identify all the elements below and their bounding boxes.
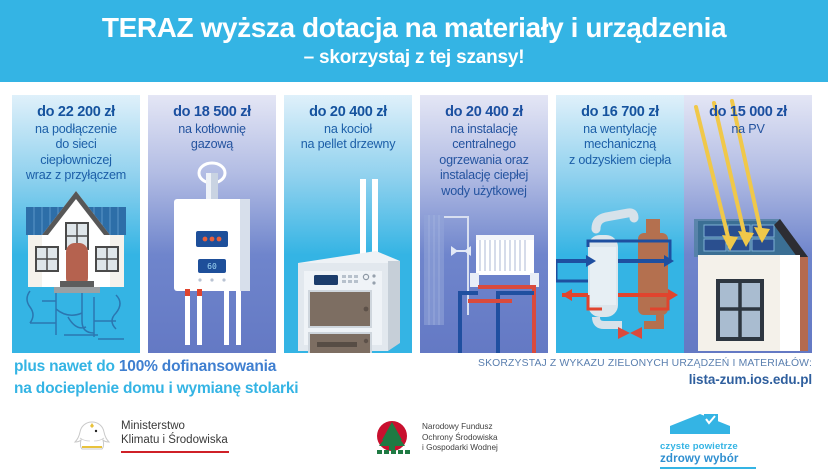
header-subtitle: – skorzystaj z tej szansy!: [304, 47, 525, 69]
nfosigw-line3: i Gospodarki Wodnej: [422, 443, 498, 454]
panel-5-description: na wentylację mechaniczną z odzyskiem ci…: [560, 122, 680, 168]
panel-6-description: na PV: [688, 122, 808, 137]
logo-nfosigw: Narodowy Fundusz Ochrony Środowiska i Go…: [372, 418, 498, 458]
panel-5-amount: do 16 700 zł: [560, 103, 680, 121]
panel-3-description: na kocioł na pellet drzewny: [288, 122, 408, 153]
logo-czyste-powietrze: czyste powietrze zdrowy wybór: [660, 414, 800, 469]
panel-3-caption: do 20 400 zł na kocioł na pellet drzewny: [284, 103, 412, 153]
subsidy-panels-row: do 22 200 zł na podłączenie do sieci cie…: [0, 95, 828, 353]
panel-central-heating: do 20 400 zł na instalację centralnego o…: [420, 95, 548, 353]
czyste-powietrze-line2: zdrowy wybór: [660, 452, 800, 465]
panel-1-description: na podłączenie do sieci ciepłowniczej wr…: [16, 122, 136, 183]
logo-ministry-of-climate: Ministerstwo Klimatu i Środowiska: [72, 416, 229, 456]
panel-3-amount: do 20 400 zł: [288, 103, 408, 121]
nfosigw-line1: Narodowy Fundusz: [422, 422, 498, 433]
svg-text:60: 60: [207, 262, 217, 271]
bottom-left-line1: plus nawet do 100% dofinansowania: [14, 356, 454, 378]
ministry-red-rule: [121, 451, 229, 454]
panel-2-caption: do 18 500 zł na kotłownię gazową: [148, 103, 276, 153]
logo-bar: Ministerstwo Klimatu i Środowiska Narodo…: [0, 406, 828, 466]
panel-ventilation: do 16 700 zł na wentylację mechaniczną z…: [556, 95, 684, 353]
panel-6-caption: do 15 000 zł na PV: [684, 103, 812, 137]
panel-4-amount: do 20 400 zł: [424, 103, 544, 121]
nfosigw-line2: Ochrony Środowiska: [422, 433, 498, 444]
bottom-left-note: plus nawet do 100% dofinansowania na doc…: [14, 356, 454, 401]
panel-gas-boiler: 60 do 18 500 zł na kotłownię gazową: [148, 95, 276, 353]
green-list-url[interactable]: lista-zum.ios.edu.pl: [478, 372, 812, 387]
bottom-right-note: SKORZYSTAJ Z WYKAZU ZIELONYCH URZĄDZEŃ I…: [478, 358, 812, 387]
house-roof-check-icon: [660, 414, 760, 436]
panel-1-amount: do 22 200 zł: [16, 103, 136, 121]
panel-district-heating: do 22 200 zł na podłączenie do sieci cie…: [12, 95, 140, 353]
panel-pellet-boiler: do 20 400 zł na kocioł na pellet drzewny: [284, 95, 412, 353]
panel-4-caption: do 20 400 zł na instalację centralnego o…: [420, 103, 548, 199]
panel-2-description: na kotłownię gazową: [152, 122, 272, 153]
panel-2-amount: do 18 500 zł: [152, 103, 272, 121]
green-list-note: SKORZYSTAJ Z WYKAZU ZIELONYCH URZĄDZEŃ I…: [478, 358, 812, 369]
ministry-line1: Ministerstwo: [121, 419, 229, 433]
bottom-left-highlight: 100% dofinansowania: [119, 358, 276, 375]
bottom-left-prefix: plus nawet do: [14, 358, 119, 375]
panel-photovoltaics: do 15 000 zł na PV: [684, 95, 812, 353]
nfosigw-tree-icon: [372, 418, 414, 458]
header-banner: TERAZ wyższa dotacja na materiały i urzą…: [0, 0, 828, 82]
ministry-line2: Klimatu i Środowiska: [121, 433, 229, 447]
header-title: TERAZ wyższa dotacja na materiały i urzą…: [102, 13, 726, 42]
panel-5-caption: do 16 700 zł na wentylację mechaniczną z…: [556, 103, 684, 168]
bottom-left-line2: na docieplenie domu i wymianę stolarki: [14, 378, 454, 400]
polish-eagle-icon: [72, 416, 112, 456]
panel-4-description: na instalację centralnego ogrzewania ora…: [424, 122, 544, 199]
czyste-powietrze-line1: czyste powietrze: [660, 441, 800, 452]
panel-6-amount: do 15 000 zł: [688, 103, 808, 121]
panel-1-caption: do 22 200 zł na podłączenie do sieci cie…: [12, 103, 140, 184]
